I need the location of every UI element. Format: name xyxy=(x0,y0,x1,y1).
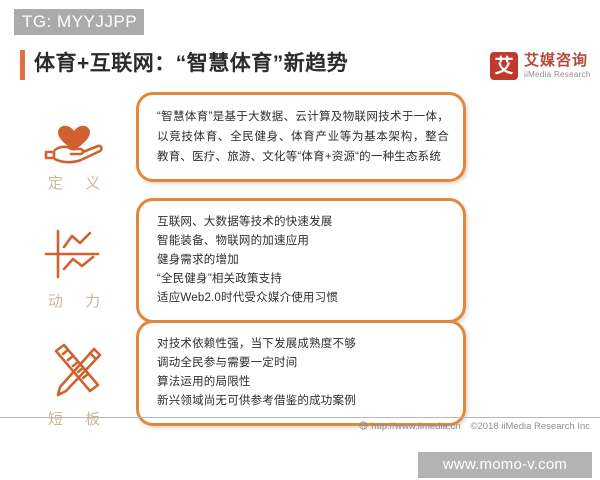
watermark: www.momo-v.com xyxy=(418,452,592,478)
shortcoming-line: 对技术依赖性强，当下发展成熟度不够 xyxy=(157,335,449,354)
section-left-shortcomings: 短 板 xyxy=(18,336,130,429)
logo-text: 艾媒咨询 iiMedia Research xyxy=(524,53,591,80)
logo-name-cn: 艾媒咨询 xyxy=(524,53,591,69)
shortcoming-line: 算法运用的局限性 xyxy=(157,373,449,392)
logo-mark-icon: 艾 xyxy=(490,52,518,80)
shortcoming-line: 新兴领域尚无可供参考借鉴的成功案例 xyxy=(157,392,449,411)
trend-chart-icon xyxy=(18,218,130,290)
globe-icon xyxy=(359,421,368,432)
driver-line: 智能装备、物联网的加速应用 xyxy=(157,232,449,251)
driver-line: 互联网、大数据等技术的快速发展 xyxy=(157,213,449,232)
content-box-definition: “智慧体育”是基于大数据、云计算及物联网技术于一体，以竞技体育、全民健身、体育产… xyxy=(136,92,466,182)
driver-line: 健身需求的增加 xyxy=(157,251,449,270)
overlay-tag: TG: MYYJJPP xyxy=(14,9,144,35)
section-left-definition: 定 义 xyxy=(18,100,130,193)
footer-divider xyxy=(0,417,600,418)
section-left-drivers: 动 力 xyxy=(18,218,130,311)
shortcoming-line: 调动全民参与需要一定时间 xyxy=(157,354,449,373)
ruler-pencil-icon xyxy=(18,336,130,408)
driver-line: 适应Web2.0时代受众媒介使用习惯 xyxy=(157,289,449,308)
content-box-shortcomings: 对技术依赖性强，当下发展成熟度不够 调动全民参与需要一定时间 算法运用的局限性 … xyxy=(136,320,466,426)
footer-url: http://www.iimedia.cn xyxy=(371,421,460,432)
slide-canvas: TG: MYYJJPP 体育+互联网：“智慧体育”新趋势 艾 艾媒咨询 iiMe… xyxy=(0,0,600,480)
title-accent-bar xyxy=(20,50,25,80)
section-label-drivers: 动 力 xyxy=(18,290,130,311)
section-label-definition: 定 义 xyxy=(18,172,130,193)
footer-copyright: ©2018 iiMedia Research Inc xyxy=(471,421,590,432)
logo-name-en: iiMedia Research xyxy=(524,69,591,80)
content-box-drivers: 互联网、大数据等技术的快速发展 智能装备、物联网的加速应用 健身需求的增加 “全… xyxy=(136,198,466,323)
driver-line: “全民健身”相关政策支持 xyxy=(157,270,449,289)
brand-logo: 艾 艾媒咨询 iiMedia Research xyxy=(490,52,591,80)
page-title: 体育+互联网：“智慧体育”新趋势 xyxy=(34,46,348,82)
definition-paragraph: “智慧体育”是基于大数据、云计算及物联网技术于一体，以竞技体育、全民健身、体育产… xyxy=(157,107,449,167)
hand-holding-heart-icon xyxy=(18,100,130,172)
footer: http://www.iimedia.cn©2018 iiMedia Resea… xyxy=(0,421,600,432)
